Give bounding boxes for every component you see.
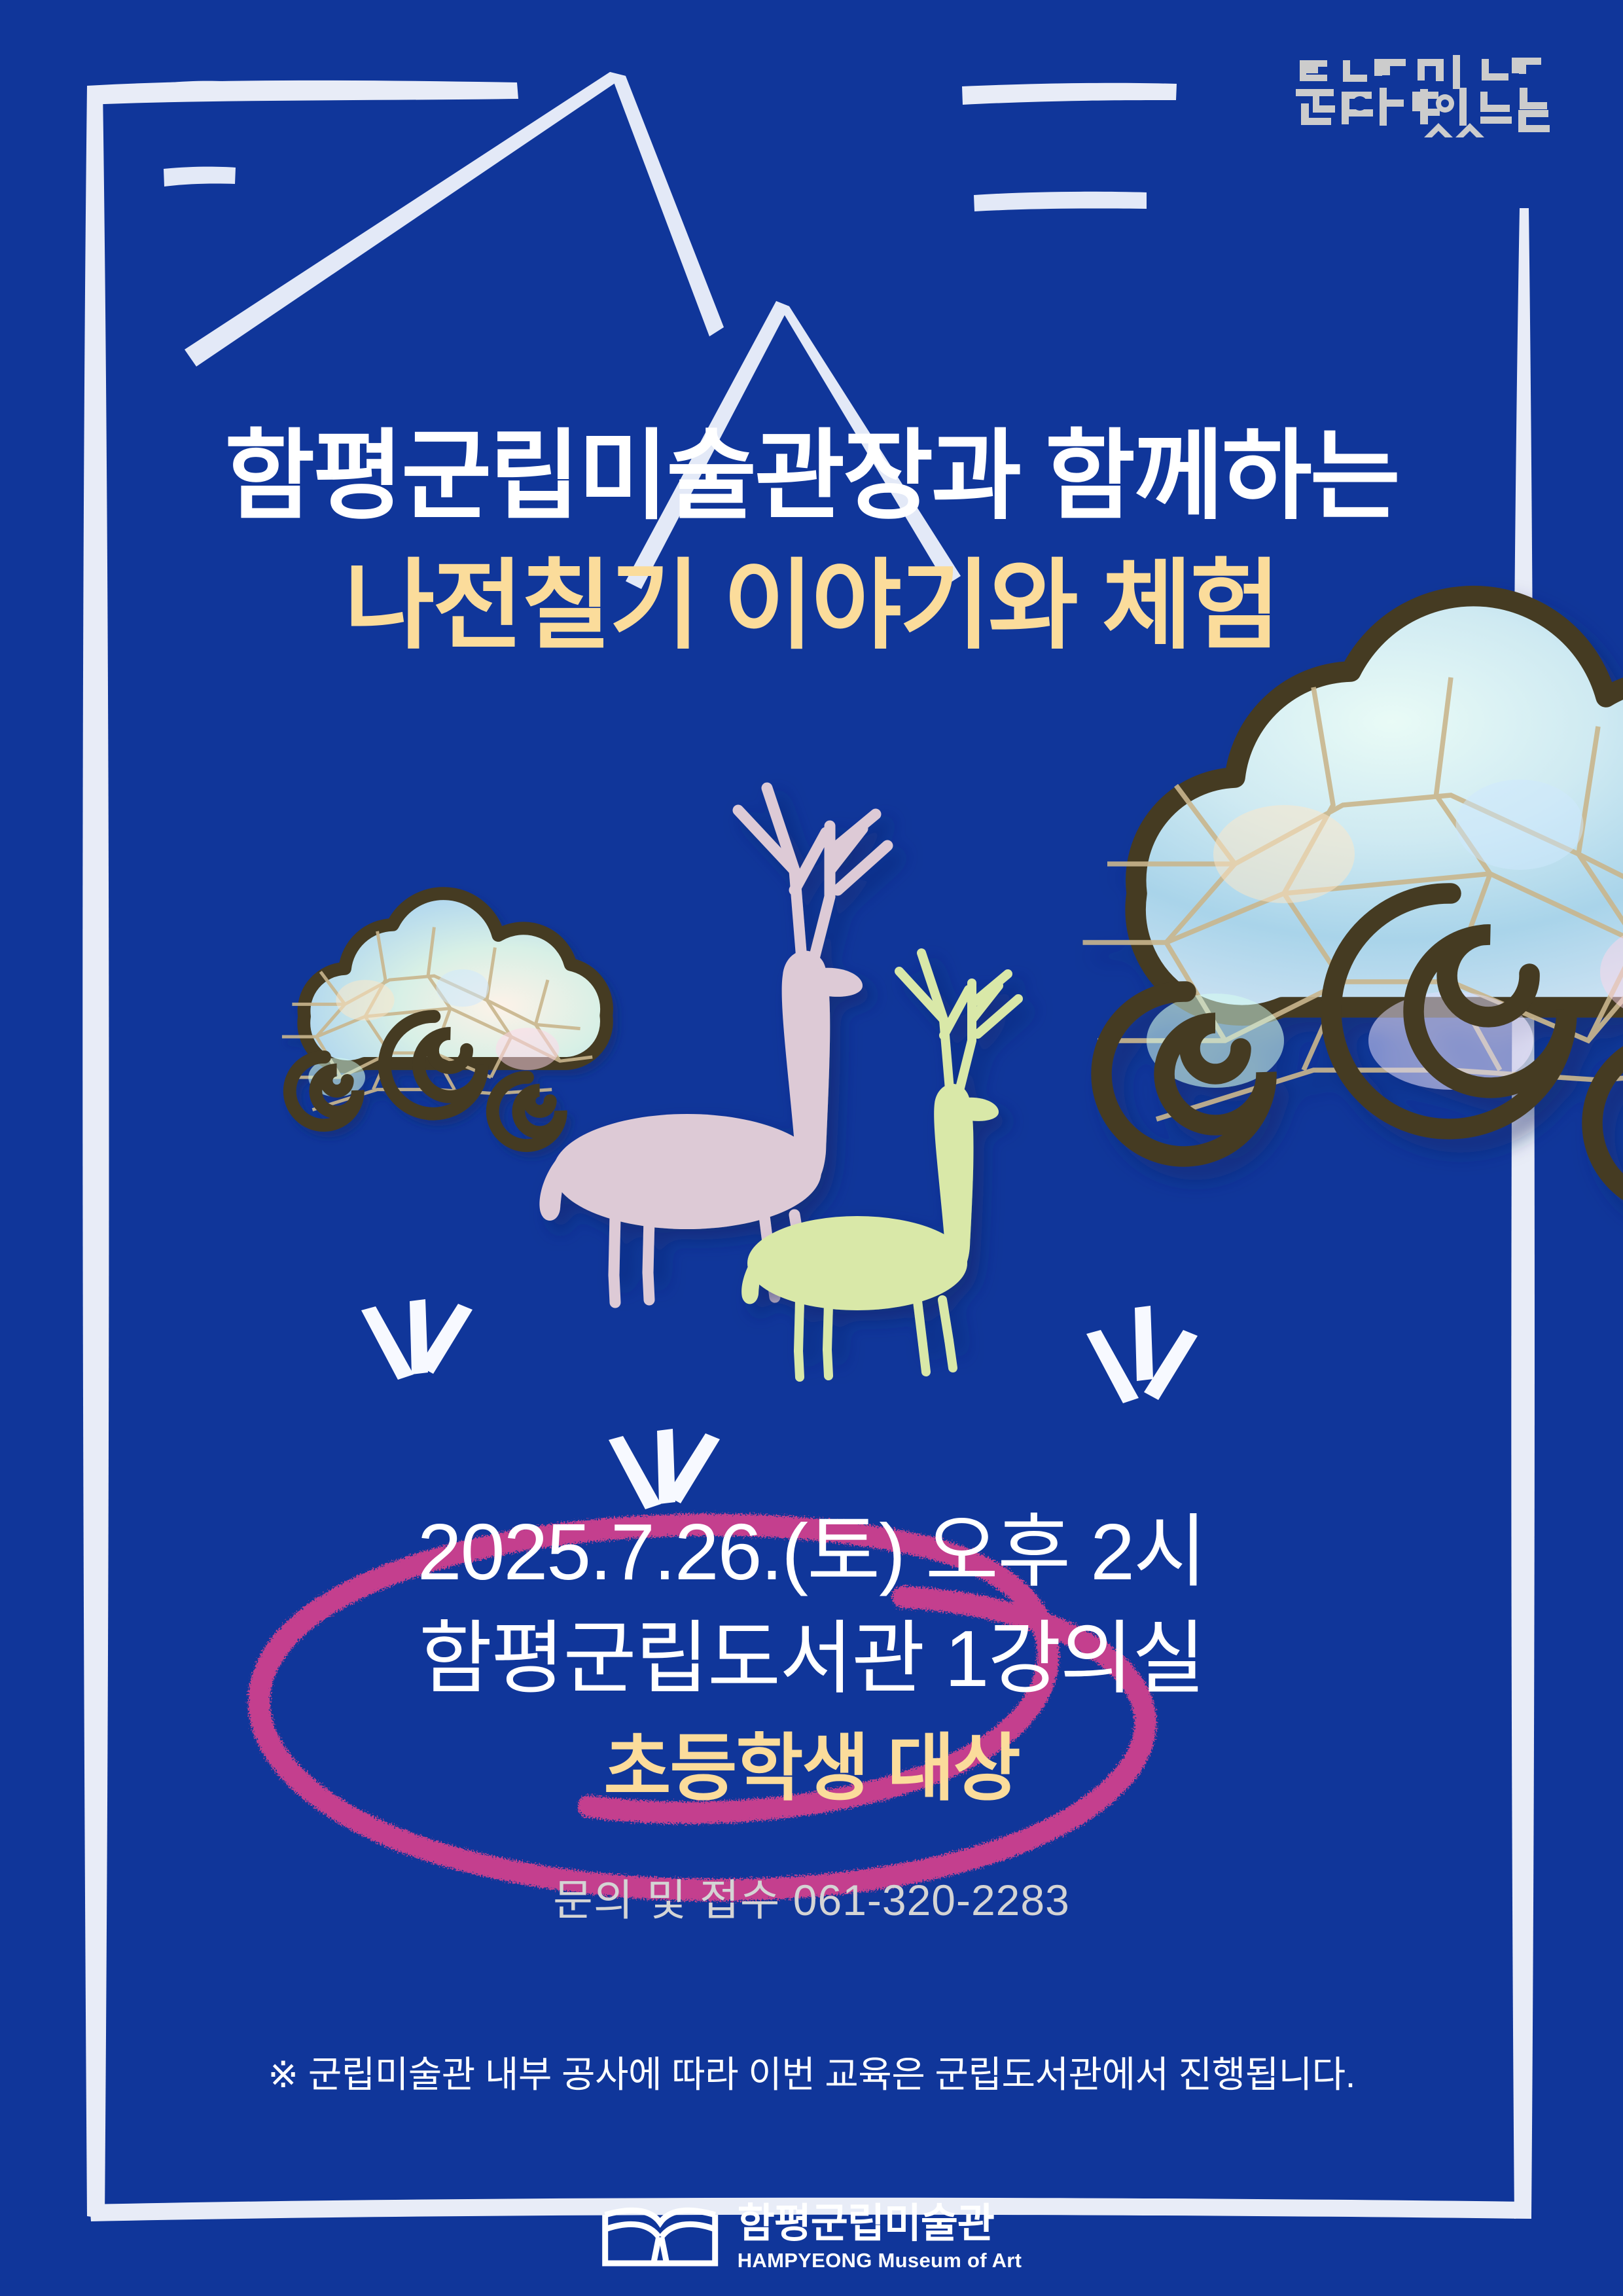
event-venue: 함평군립도서관 1강의실 (0, 1605, 1623, 1712)
museum-name-korean: 함평군립미술관 (738, 2204, 1022, 2244)
deer-green-legs (798, 1340, 953, 1377)
deer-pink (539, 788, 887, 1275)
spark-mark-center (609, 1429, 720, 1509)
deer-pink-legs (614, 1263, 806, 1302)
deer-green (741, 953, 1018, 1351)
info-block: 2025.7.26.(토) 오후 2시 함평군립도서관 1강의실 초등학생 대상 (0, 1499, 1623, 1818)
contact-info: 문의 및 접수 061-320-2283 (0, 1865, 1623, 1928)
spark-mark-left (361, 1299, 473, 1380)
poster-decorations (0, 0, 1623, 2296)
najeon-cloud-large (1083, 596, 1623, 1206)
event-audience: 초등학생 대상 (0, 1719, 1623, 1818)
title-block: 함평군립미술관장과 함께하는 나전칠기 이야기와 체험 (0, 419, 1623, 662)
spark-mark-right (1086, 1306, 1198, 1403)
poster-root: 함평군립미술관장과 함께하는 나전칠기 이야기와 체험 2025.7.26.(토… (0, 0, 1623, 2296)
museum-logo: 함평군립미술관 HAMPYEONG Museum of Art (601, 2203, 1022, 2271)
museum-name-english: HAMPYEONG Museum of Art (738, 2250, 1022, 2270)
najeon-cloud-small (282, 893, 607, 1145)
venue-change-note: ※ 군립미술관 내부 공사에 따라 이번 교육은 군립도서관에서 진행됩니다. (0, 2045, 1623, 2098)
open-book-icon (601, 2203, 719, 2271)
event-datetime: 2025.7.26.(토) 오후 2시 (0, 1499, 1623, 1605)
title-line-1: 함평군립미술관장과 함께하는 (0, 419, 1623, 533)
title-line-2: 나전칠기 이야기와 체험 (0, 548, 1623, 662)
museum-logo-text: 함평군립미술관 HAMPYEONG Museum of Art (738, 2204, 1022, 2270)
culture-day-logo (1296, 46, 1551, 170)
dash-marks (164, 167, 1147, 211)
